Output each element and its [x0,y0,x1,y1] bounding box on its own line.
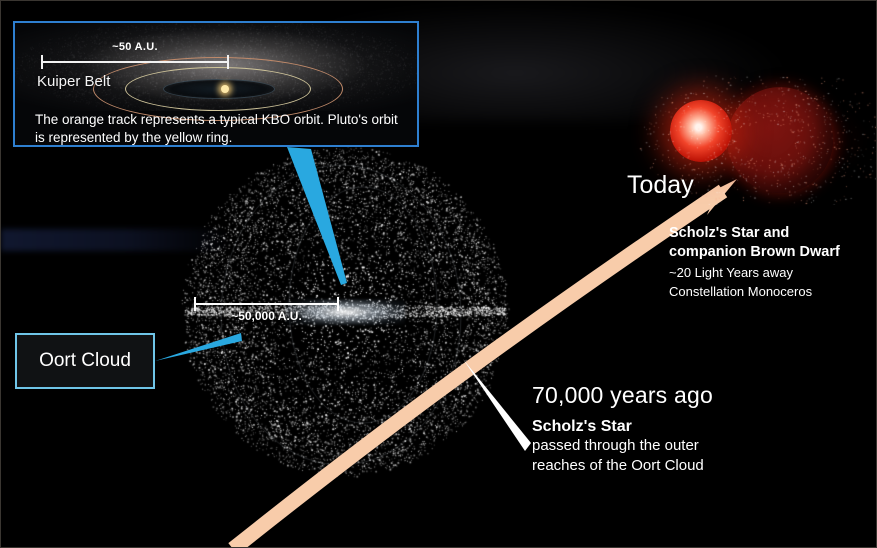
today-label: Today [627,171,694,200]
kuiper-belt-label: Kuiper Belt [37,73,110,90]
inset-scale-cap-right [227,55,229,69]
encounter-line2: reaches of the Oort Cloud [532,456,777,476]
encounter-time-label: 70,000 years ago [532,382,777,409]
oort-scale-bar: ~50,000 A.U. [194,303,339,304]
inset-scale-line [41,61,229,63]
encounter-heading: Scholz's Star [532,418,777,436]
inset-scale-label: ~50 A.U. [41,41,229,53]
scholz-heading-line1: Scholz's Star and [669,224,874,243]
inset-caption: The orange track represents a typical KB… [35,111,411,147]
oort-cloud-callout-box: Oort Cloud [15,333,155,389]
encounter-description: 70,000 years ago Scholz's Star passed th… [532,382,777,475]
encounter-line1: passed through the outer [532,436,777,456]
inner-planets-disc [163,79,275,99]
inset-scale-bar: ~50 A.U. [41,61,229,62]
oort-cloud-callout-label: Oort Cloud [39,350,131,372]
sun-marker [221,85,229,93]
scholz-constellation: Constellation Monoceros [669,283,874,301]
scale-bar-line [194,303,339,305]
scholz-star-description: Scholz's Star and companion Brown Dwarf … [669,224,874,301]
infographic-canvas: ~50,000 A.U. ~50 A.U. Kuiper Belt The or… [0,0,877,548]
oort-scale-label: ~50,000 A.U. [194,309,339,323]
inset-scale-cap-left [41,55,43,69]
kuiper-belt-inset: ~50 A.U. Kuiper Belt The orange track re… [13,21,419,147]
scholz-heading-line2: companion Brown Dwarf [669,243,874,262]
scholz-distance: ~20 Light Years away [669,264,874,282]
